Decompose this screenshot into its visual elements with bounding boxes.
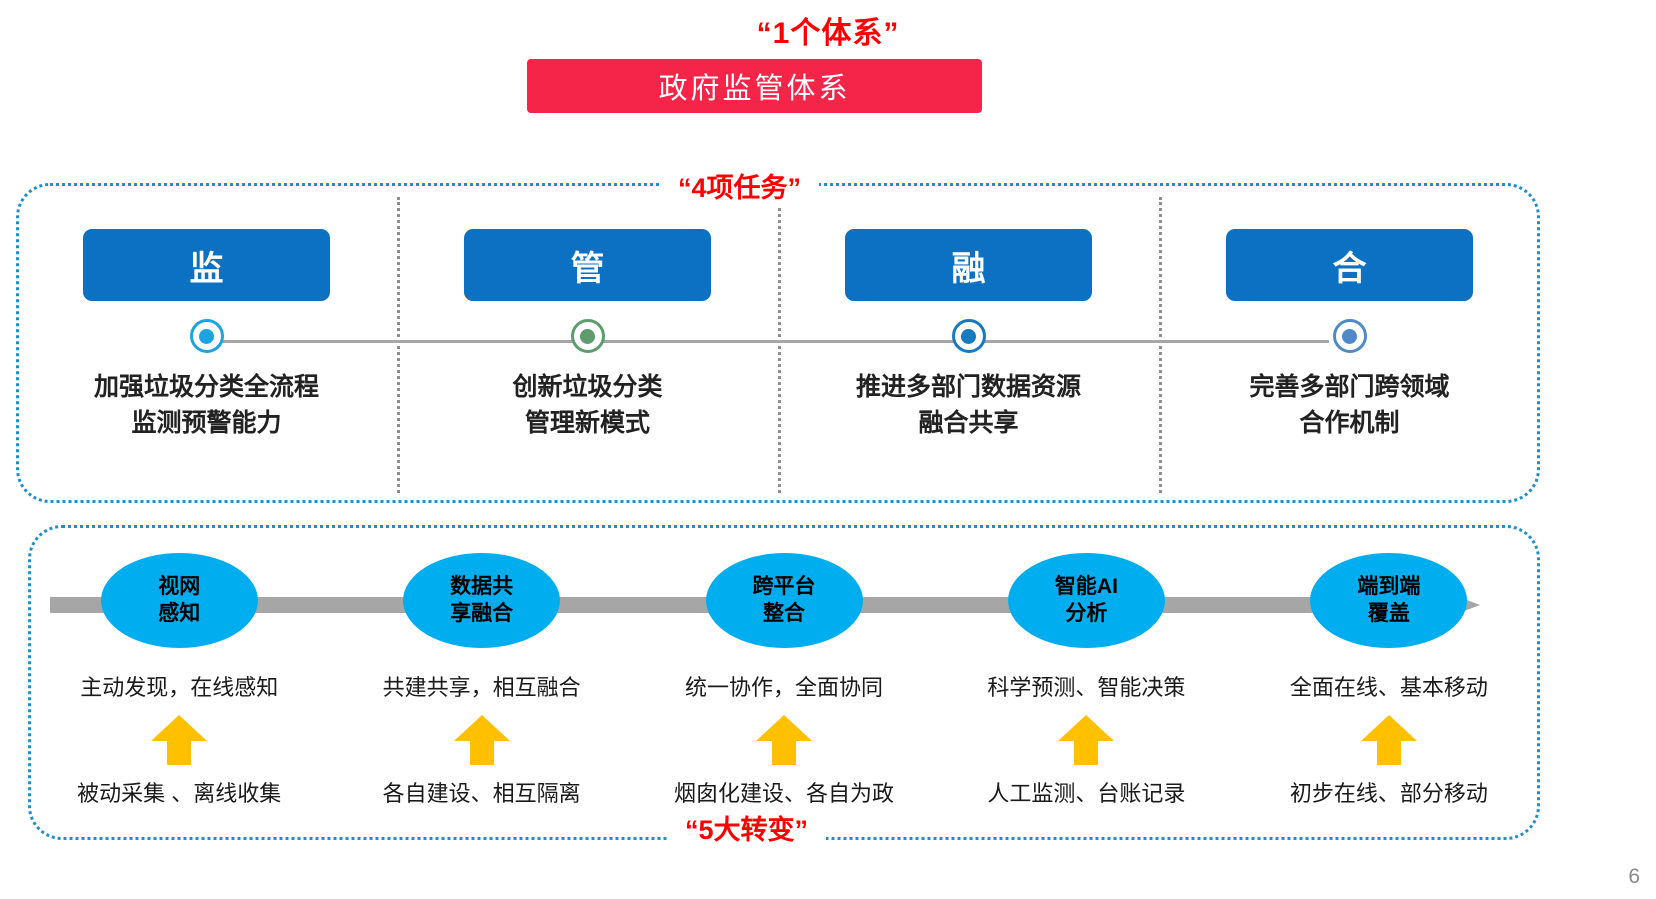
shift-after-text-2: 共建共享，相互融合: [383, 670, 581, 702]
shift-before-text-3: 烟囱化建设、各自为政: [674, 776, 894, 808]
task-card-2[interactable]: 管 创新垃圾分类 管理新模式: [397, 183, 778, 503]
up-arrow-icon-1: [151, 715, 207, 765]
task-card-1[interactable]: 监 加强垃圾分类全流程 监测预警能力: [16, 183, 397, 503]
shift-ellipse-3[interactable]: 跨平台 整合: [706, 553, 863, 648]
shift-ellipse-line1-2: 数据共: [450, 574, 513, 600]
tasks-connector-line: [207, 340, 1329, 343]
task-desc-3: 推进多部门数据资源 融合共享: [856, 370, 1081, 441]
task-chip-label-1: 监: [190, 241, 224, 290]
task-chip-2[interactable]: 管: [464, 229, 711, 301]
task-marker-wrap-4: [1159, 316, 1540, 356]
shift-before-text-2: 各自建设、相互隔离: [383, 776, 581, 808]
task-marker-wrap-3: [778, 316, 1159, 356]
task-marker-icon-1: [190, 319, 224, 353]
system-banner-label: 政府监管体系: [658, 65, 850, 107]
task-desc-line2-1: 监测预警能力: [94, 406, 319, 442]
shift-ellipse-line2-5: 覆盖: [1368, 601, 1410, 627]
shift-ellipse-line1-1: 视网: [158, 574, 200, 600]
task-marker-icon-2: [571, 319, 605, 353]
shift-ellipse-line2-4: 分析: [1065, 601, 1107, 627]
task-chip-label-2: 管: [571, 241, 605, 290]
shift-ellipse-4[interactable]: 智能AI 分析: [1008, 553, 1165, 648]
shift-ellipse-line1-3: 跨平台: [753, 574, 816, 600]
up-arrow-icon-3: [756, 715, 812, 765]
page-number: 6: [1628, 865, 1640, 889]
shift-ellipse-line2-3: 整合: [763, 601, 805, 627]
shift-item-1[interactable]: 视网 感知 主动发现，在线感知 被动采集 、离线收集: [28, 525, 330, 840]
up-arrow-icon-2: [454, 715, 510, 765]
task-desc-2: 创新垃圾分类 管理新模式: [512, 370, 662, 441]
task-marker-icon-4: [1333, 319, 1367, 353]
task-desc-line2-4: 合作机制: [1249, 406, 1449, 442]
shift-row: 视网 感知 主动发现，在线感知 被动采集 、离线收集 数据共 享融合 共建共享，…: [28, 525, 1540, 840]
shift-item-2[interactable]: 数据共 享融合 共建共享，相互融合 各自建设、相互隔离: [330, 525, 632, 840]
shift-before-text-5: 初步在线、部分移动: [1290, 776, 1488, 808]
shift-before-text-4: 人工监测、台账记录: [987, 776, 1185, 808]
shift-section-label: “5大转变”: [667, 808, 826, 847]
shift-ellipse-line2-1: 感知: [158, 601, 200, 627]
task-marker-wrap-2: [397, 316, 778, 356]
shift-ellipse-5[interactable]: 端到端 覆盖: [1310, 553, 1467, 648]
shift-item-4[interactable]: 智能AI 分析 科学预测、智能决策 人工监测、台账记录: [935, 525, 1237, 840]
task-chip-label-3: 融: [952, 241, 986, 290]
shift-ellipse-line1-4: 智能AI: [1055, 574, 1118, 600]
up-arrow-icon-5: [1361, 715, 1417, 765]
task-desc-line1-3: 推进多部门数据资源: [856, 370, 1081, 406]
task-desc-line2-3: 融合共享: [856, 406, 1081, 442]
shift-before-text-1: 被动采集 、离线收集: [77, 776, 281, 808]
task-marker-icon-3: [952, 319, 986, 353]
task-marker-wrap-1: [16, 316, 397, 356]
shift-after-text-1: 主动发现，在线感知: [80, 670, 278, 702]
task-desc-1: 加强垃圾分类全流程 监测预警能力: [94, 370, 319, 441]
shift-ellipse-line2-2: 享融合: [450, 601, 513, 627]
up-arrow-icon-4: [1058, 715, 1114, 765]
shift-ellipse-line1-5: 端到端: [1357, 574, 1420, 600]
shift-after-text-3: 统一协作，全面协同: [685, 670, 883, 702]
task-chip-1[interactable]: 监: [83, 229, 330, 301]
slide-root: “1个体系” 政府监管体系 “4项任务” 监 加强垃圾分类全流程 监测预警能力 …: [0, 0, 1656, 899]
task-desc-line1-2: 创新垃圾分类: [512, 370, 662, 406]
task-desc-4: 完善多部门跨领域 合作机制: [1249, 370, 1449, 441]
task-chip-3[interactable]: 融: [845, 229, 1092, 301]
task-card-3[interactable]: 融 推进多部门数据资源 融合共享: [778, 183, 1159, 503]
shift-ellipse-2[interactable]: 数据共 享融合: [403, 553, 560, 648]
task-chip-4[interactable]: 合: [1226, 229, 1473, 301]
tasks-row: 监 加强垃圾分类全流程 监测预警能力 管 创新垃圾分类: [16, 183, 1540, 503]
task-chip-label-4: 合: [1333, 241, 1367, 290]
task-desc-line2-2: 管理新模式: [512, 406, 662, 442]
shift-item-5[interactable]: 端到端 覆盖 全面在线、基本移动 初步在线、部分移动: [1238, 525, 1540, 840]
task-desc-line1-4: 完善多部门跨领域: [1249, 370, 1449, 406]
page-title: “1个体系”: [0, 8, 1656, 52]
task-card-4[interactable]: 合 完善多部门跨领域 合作机制: [1159, 183, 1540, 503]
shift-item-3[interactable]: 跨平台 整合 统一协作，全面协同 烟囱化建设、各自为政: [633, 525, 935, 840]
system-banner: 政府监管体系: [527, 59, 982, 113]
shift-ellipse-1[interactable]: 视网 感知: [101, 553, 258, 648]
shift-after-text-5: 全面在线、基本移动: [1290, 670, 1488, 702]
tasks-section-label: “4项任务”: [660, 166, 819, 205]
shift-after-text-4: 科学预测、智能决策: [987, 670, 1185, 702]
task-desc-line1-1: 加强垃圾分类全流程: [94, 370, 319, 406]
